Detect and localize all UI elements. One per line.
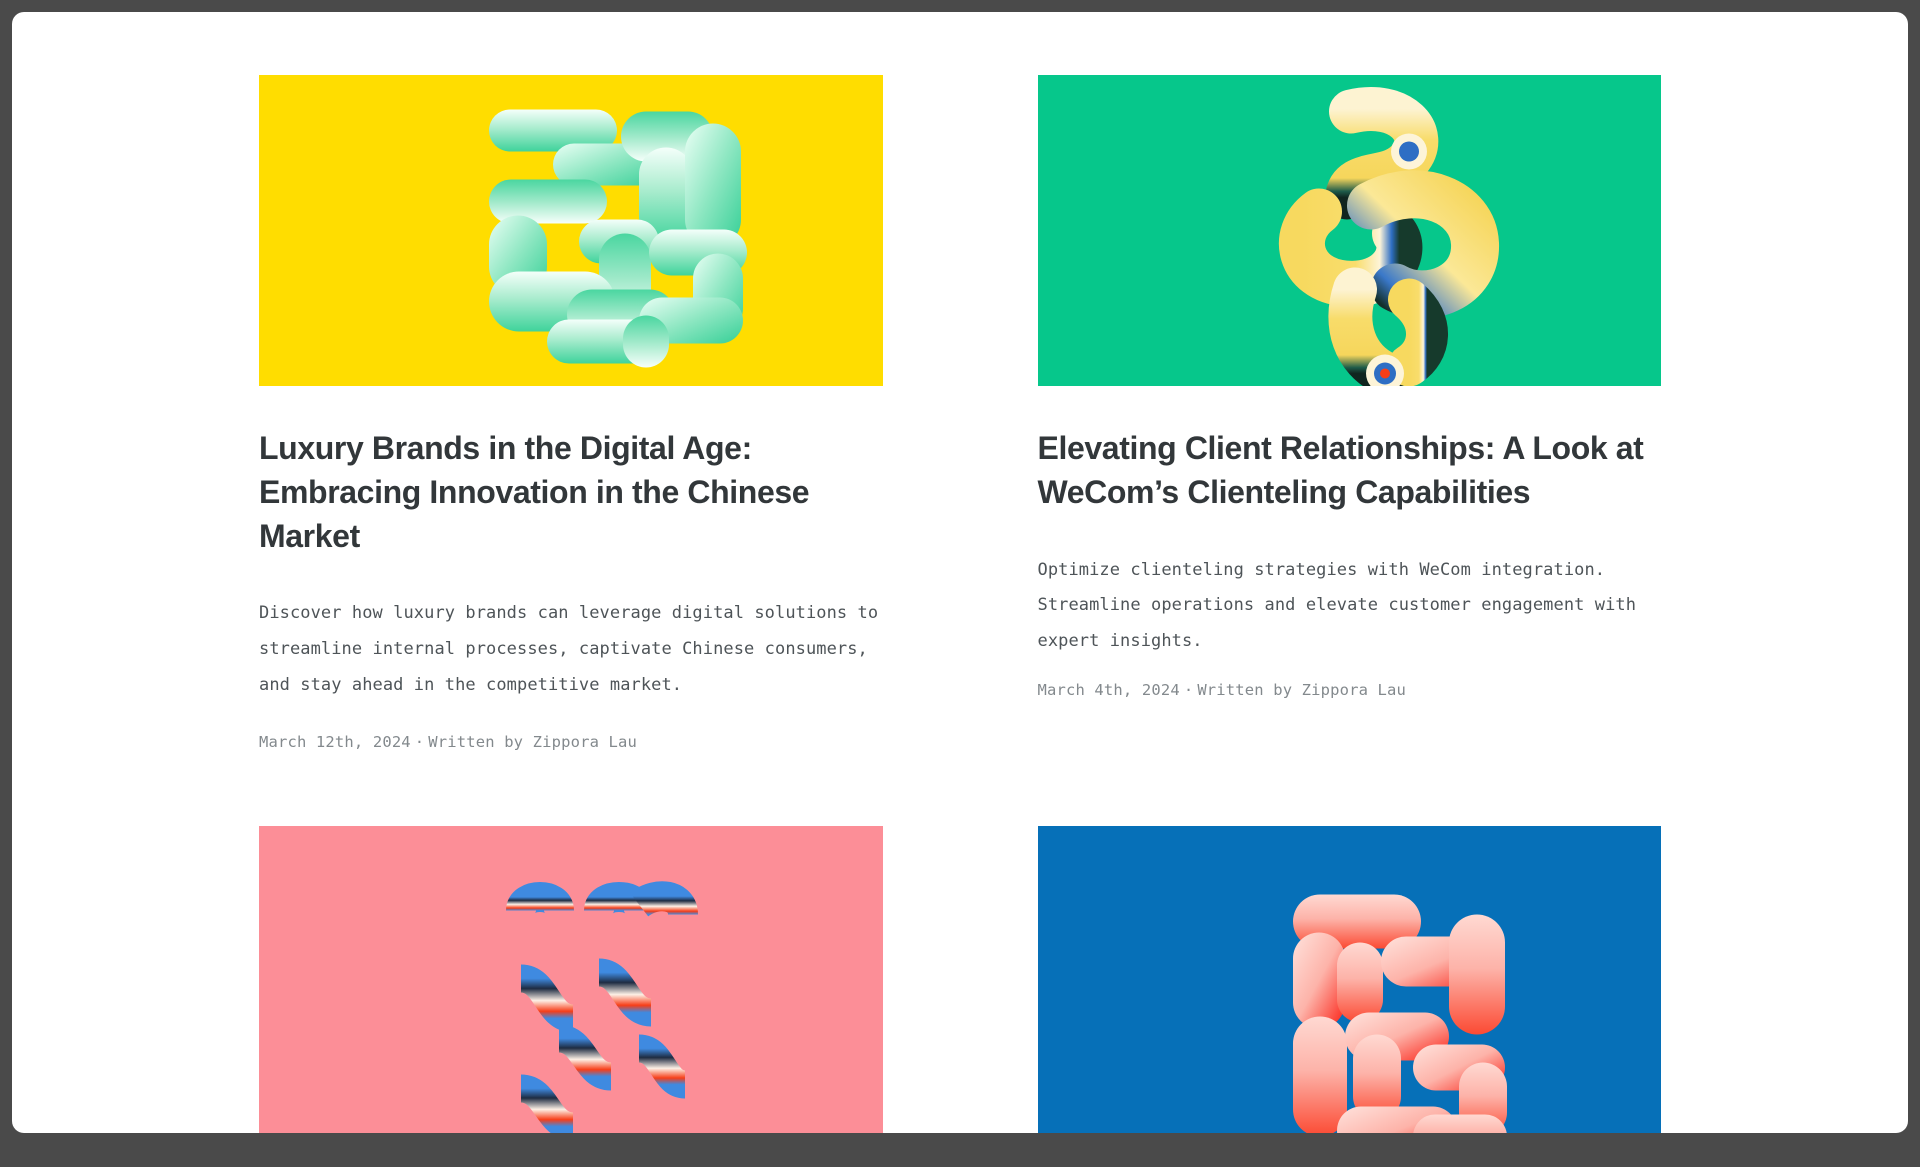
page-canvas: Luxury Brands in the Digital Age: Embrac…: [12, 12, 1908, 1133]
post-hero-image-3[interactable]: [259, 826, 883, 1133]
meta-separator-1: ·: [411, 733, 429, 751]
blog-post-card-3[interactable]: [259, 826, 883, 1133]
blog-post-card-1[interactable]: Luxury Brands in the Digital Age: Embrac…: [259, 75, 883, 826]
post-hero-image-1[interactable]: [259, 75, 883, 386]
post-title-2[interactable]: Elevating Client Relationships: A Look a…: [1038, 427, 1662, 515]
post-excerpt-1: Discover how luxury brands can leverage …: [259, 596, 883, 703]
abstract-knotted-tube-sculpture-yellow-icon: [1038, 75, 1662, 386]
post-excerpt-2: Optimize clienteling strategies with WeC…: [1038, 553, 1662, 660]
abstract-tube-sculpture-pink-icon: [1038, 826, 1662, 1133]
post-meta-2: March 4th, 2024·Written by Zippora Lau: [1038, 678, 1662, 703]
browser-window-frame: Luxury Brands in the Digital Age: Embrac…: [0, 0, 1920, 1167]
post-title-1[interactable]: Luxury Brands in the Digital Age: Embrac…: [259, 427, 883, 558]
post-byline-2: Written by Zippora Lau: [1197, 681, 1406, 699]
post-hero-image-2[interactable]: [1038, 75, 1662, 386]
post-date-1: March 12th, 2024: [259, 733, 411, 751]
post-meta-1: March 12th, 2024·Written by Zippora Lau: [259, 730, 883, 755]
meta-separator-2: ·: [1180, 681, 1198, 699]
abstract-tube-sculpture-green-icon: [259, 75, 883, 386]
blog-post-card-2[interactable]: Elevating Client Relationships: A Look a…: [1038, 75, 1662, 826]
abstract-maze-tube-sculpture-red-blue-icon: [259, 826, 883, 1133]
post-hero-image-4[interactable]: [1038, 826, 1662, 1133]
post-date-2: March 4th, 2024: [1038, 681, 1180, 699]
blog-post-grid: Luxury Brands in the Digital Age: Embrac…: [12, 12, 1908, 1133]
blog-post-card-4[interactable]: [1038, 826, 1662, 1133]
post-byline-1: Written by Zippora Lau: [428, 733, 637, 751]
